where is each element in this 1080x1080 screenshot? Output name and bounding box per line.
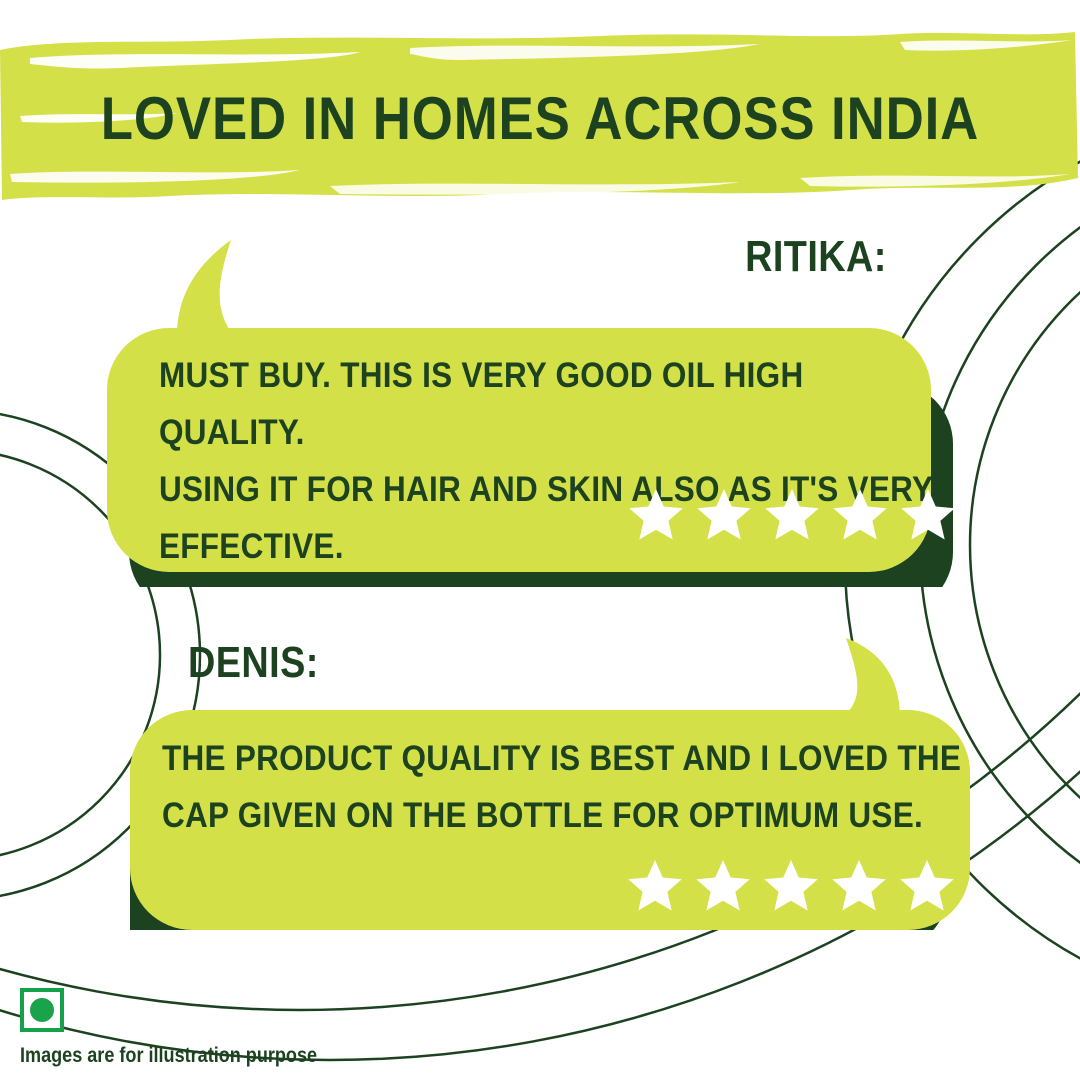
- illustration-disclaimer: Images are for illustration purpose: [20, 1044, 317, 1068]
- star-icon: [624, 856, 686, 916]
- header-banner: LOVED IN HOMES ACROSS INDIA: [0, 28, 1080, 208]
- star-icon: [896, 856, 958, 916]
- rating-stars-ritika: [625, 485, 959, 545]
- review-card-denis: DENIS: THE PRODUCT QUALITY IS BEST AND I…: [130, 638, 1010, 928]
- testimonial-poster: LOVED IN HOMES ACROSS INDIA RITIKA: MUST…: [0, 0, 1080, 1080]
- star-icon: [828, 856, 890, 916]
- star-icon: [761, 485, 823, 545]
- vegetarian-dot: [30, 998, 54, 1022]
- star-icon: [760, 856, 822, 916]
- star-icon: [693, 485, 755, 545]
- star-icon: [692, 856, 754, 916]
- star-icon: [897, 485, 959, 545]
- vegetarian-mark-icon: [20, 988, 64, 1032]
- review-card-ritika: RITIKA: MUST BUY. THIS IS VERY GOOD OIL …: [107, 232, 947, 587]
- review-text-denis: THE PRODUCT QUALITY IS BEST AND I LOVED …: [162, 730, 972, 844]
- star-icon: [625, 485, 687, 545]
- rating-stars-denis: [624, 856, 958, 916]
- star-icon: [829, 485, 891, 545]
- page-title: LOVED IN HOMES ACROSS INDIA: [65, 28, 1015, 208]
